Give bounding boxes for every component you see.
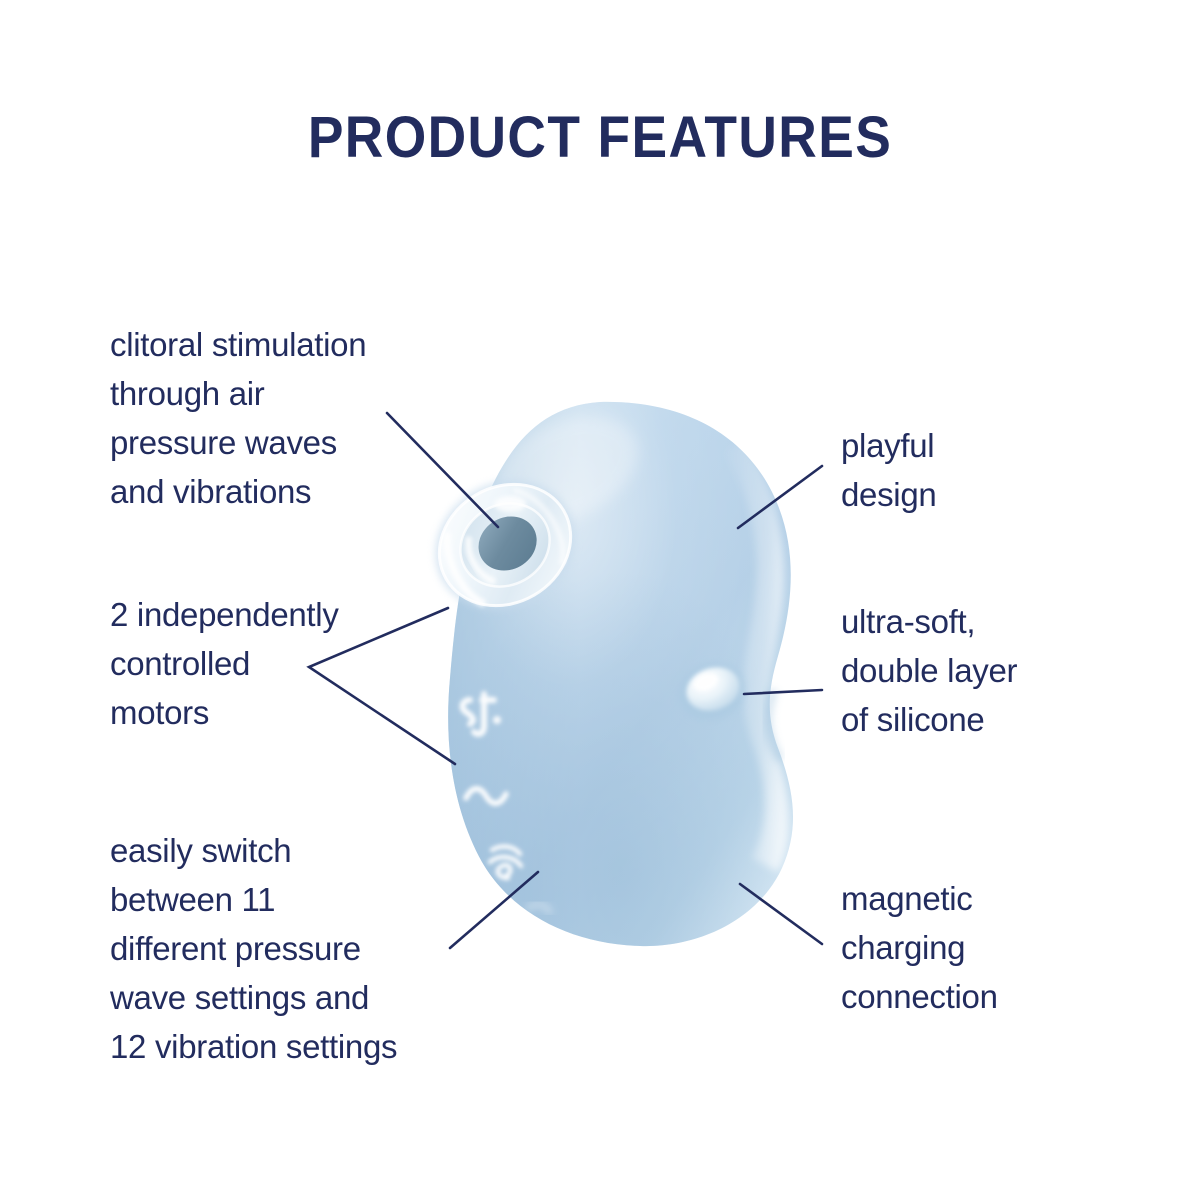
callout-charging: magnetic charging connection xyxy=(841,874,1131,1021)
callout-clitoral-stimulation: clitoral stimulation through air pressur… xyxy=(110,320,450,516)
callout-silicone: ultra-soft, double layer of silicone xyxy=(841,597,1131,744)
product-features-infographic: PRODUCT FEATURES xyxy=(0,0,1200,1200)
callout-playful-design: playful design xyxy=(841,421,1131,519)
callout-settings: easily switch between 11 different press… xyxy=(110,826,510,1071)
leader-charging xyxy=(740,884,822,944)
callout-motors: 2 independently controlled motors xyxy=(110,590,450,737)
